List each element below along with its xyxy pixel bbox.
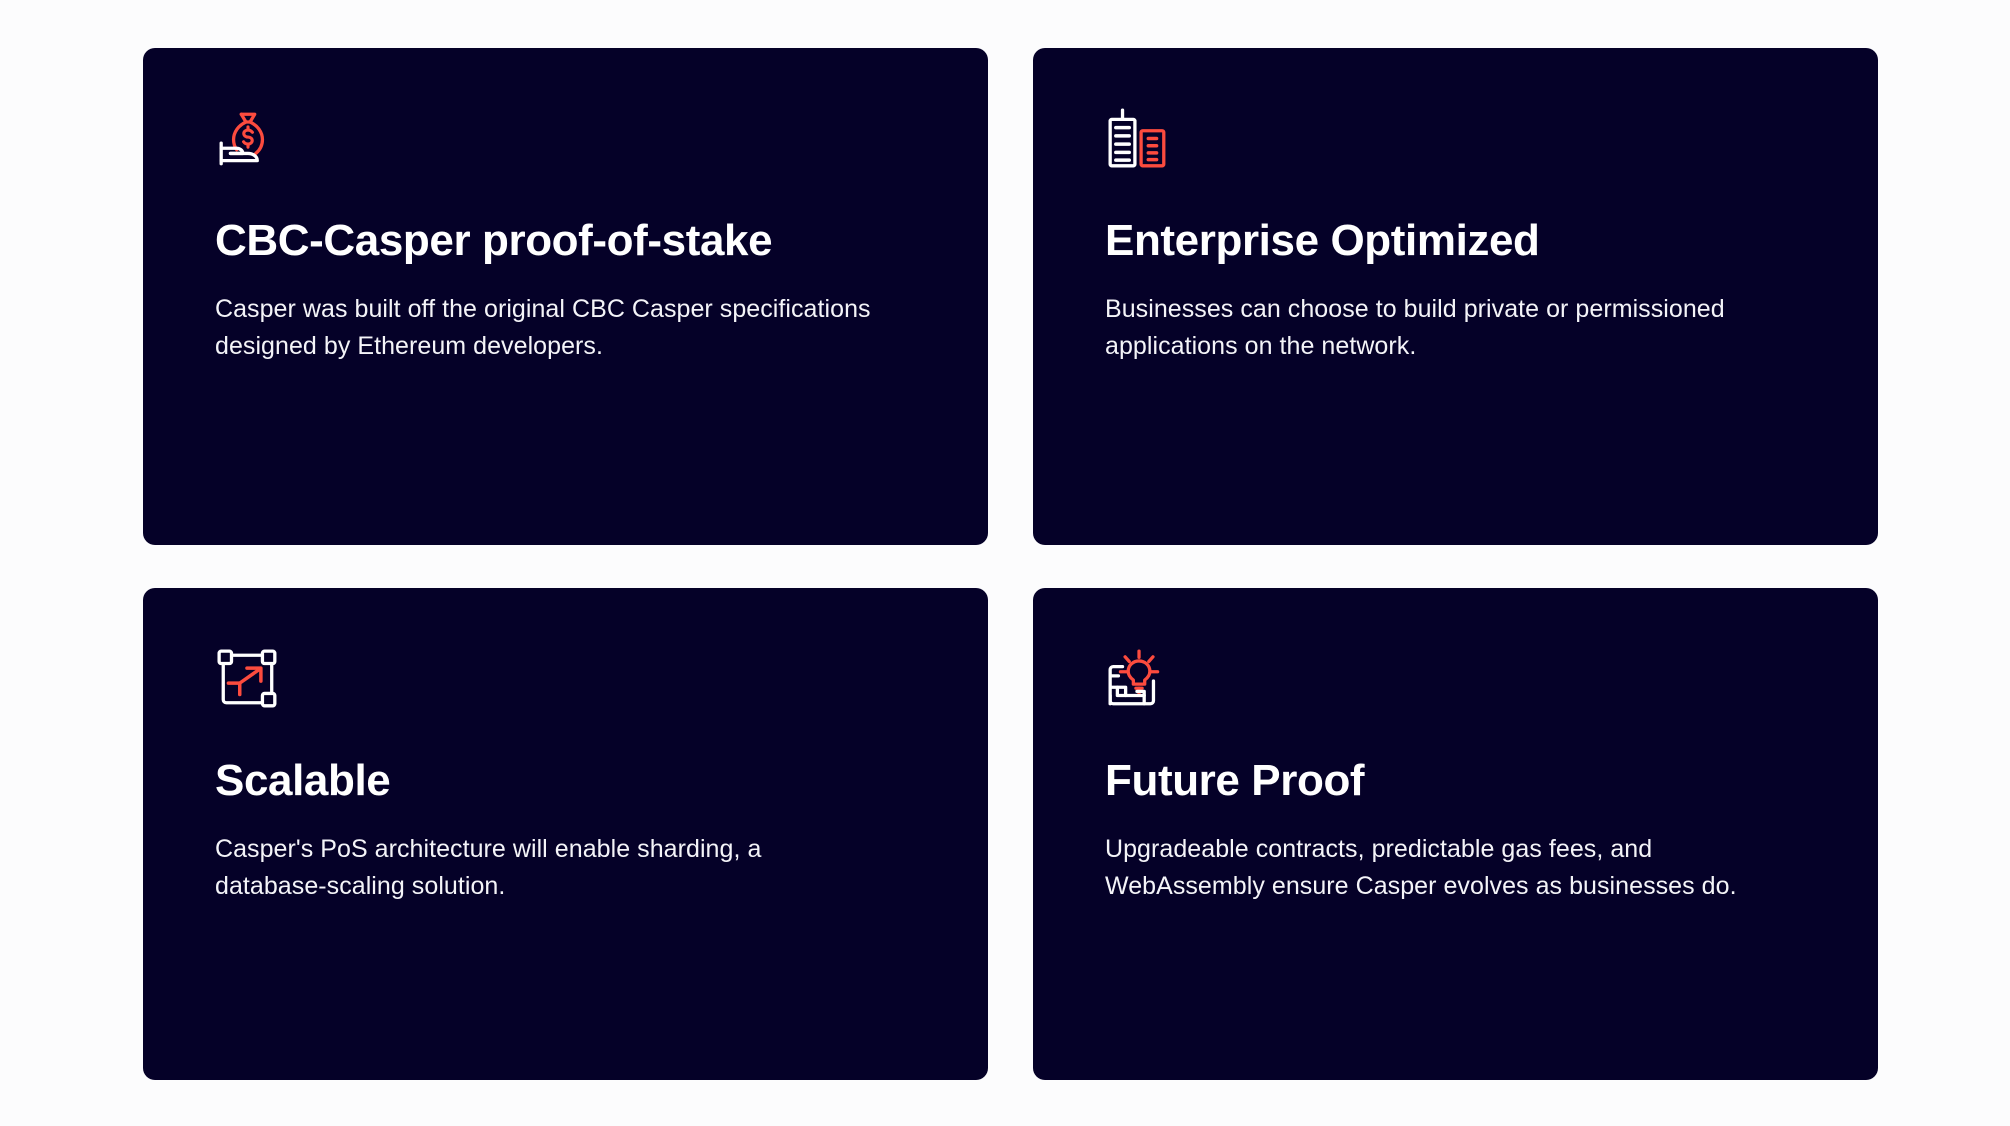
buildings-icon — [1105, 106, 1171, 172]
card-description: Upgradeable contracts, predictable gas f… — [1105, 831, 1795, 905]
scale-arrow-icon — [215, 646, 281, 712]
card-title: Future Proof — [1105, 756, 1806, 805]
money-bag-icon — [215, 106, 281, 172]
card-description: Businesses can choose to build private o… — [1105, 291, 1795, 365]
card-title: Enterprise Optimized — [1105, 216, 1806, 265]
feature-card-enterprise-optimized[interactable]: Enterprise Optimized Businesses can choo… — [1033, 48, 1878, 545]
feature-card-cbc-casper[interactable]: CBC-Casper proof-of-stake Casper was bui… — [143, 48, 988, 545]
card-description: Casper's PoS architecture will enable sh… — [215, 831, 875, 905]
feature-card-grid: CBC-Casper proof-of-stake Casper was bui… — [143, 48, 1895, 1080]
lightbulb-circuit-icon — [1105, 646, 1171, 712]
feature-card-scalable[interactable]: Scalable Casper's PoS architecture will … — [143, 588, 988, 1080]
feature-card-future-proof[interactable]: Future Proof Upgradeable contracts, pred… — [1033, 588, 1878, 1080]
card-title: CBC-Casper proof-of-stake — [215, 216, 916, 265]
card-title: Scalable — [215, 756, 916, 805]
card-description: Casper was built off the original CBC Ca… — [215, 291, 875, 365]
